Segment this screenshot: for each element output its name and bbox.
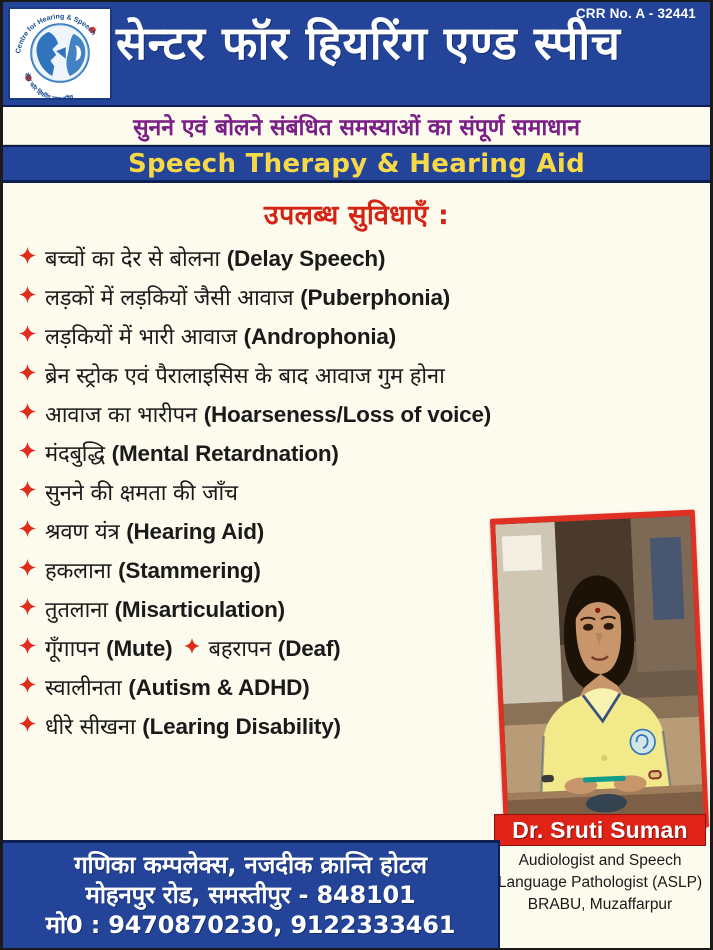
list-item: बच्चों का देर से बोलना (Delay Speech): [19, 243, 710, 282]
doctor-credential-line-3: BRABU, Muzaffarpur: [494, 894, 706, 916]
list-item-label: तुतलाना (Misarticulation): [45, 594, 285, 624]
red-diamond-icon: [19, 559, 36, 576]
doctor-credential-line-2: Language Pathologist (ASLP): [494, 872, 706, 894]
tagline-text: सुनने एवं बोलने संबंधित समस्याओं का संपू…: [133, 110, 580, 142]
red-diamond-icon: [19, 676, 36, 693]
list-item: लड़कियों में भारी आवाज (Androphonia): [19, 321, 710, 360]
doctor-name: Dr. Sruti Suman: [512, 817, 688, 844]
services-subtitle-band: Speech Therapy & Hearing Aid: [3, 145, 710, 183]
list-item: मंदबुद्धि (Mental Retardnation): [19, 438, 710, 477]
address-line-2: मोहनपुर रोड, समस्तीपुर - 848101: [86, 880, 416, 910]
address-phone: मो0 : 9470870230, 9122333461: [46, 910, 456, 940]
list-item: लड़कों में लड़कियों जैसी आवाज (Puberphon…: [19, 282, 710, 321]
doctor-photo-card: [497, 514, 702, 832]
doctor-portrait-illustration: [495, 516, 704, 833]
red-diamond-icon: [19, 286, 36, 303]
avatar: [495, 516, 704, 833]
list-item-label: हकलाना (Stammering): [45, 555, 261, 585]
list-item-label: धीरे सीखना (Learing Disability): [45, 711, 341, 741]
list-item-label: श्रवण यंत्र (Hearing Aid): [45, 516, 264, 546]
red-diamond-icon: [19, 481, 36, 498]
list-item-label: मंदबुद्धि (Mental Retardnation): [45, 438, 339, 468]
list-item-label: ब्रेन स्ट्रोक एवं पैरालाइसिस के बाद आवाज…: [45, 360, 445, 390]
brand-text-wrap: CRR No. A - 32441 सेन्टर फॉर हियरिंग एण्…: [112, 2, 710, 105]
list-item-label: लड़कों में लड़कियों जैसी आवाज (Puberphon…: [45, 282, 450, 312]
red-diamond-icon: [19, 715, 36, 732]
list-item: आवाज का भारीपन (Hoarseness/Loss of voice…: [19, 399, 710, 438]
red-diamond-icon: [19, 598, 36, 615]
red-diamond-icon: [19, 637, 36, 654]
address-band: गणिका कम्पलेक्स, नजदीक क्रान्ति होटल मोह…: [3, 840, 500, 948]
red-diamond-icon: [19, 364, 36, 381]
poster-header: Centre for Hearing & Speech सेंटर फॉर हि…: [3, 2, 710, 107]
doctor-credentials: Audiologist and Speech Language Patholog…: [494, 850, 706, 916]
red-diamond-icon: [19, 325, 36, 342]
list-item-label: आवाज का भारीपन (Hoarseness/Loss of voice…: [45, 399, 491, 429]
services-heading: उपलब्ध सुविधाएँ :: [3, 195, 710, 243]
clinic-logo: Centre for Hearing & Speech सेंटर फॉर हि…: [8, 7, 112, 100]
services-subtitle: Speech Therapy & Hearing Aid: [128, 149, 585, 179]
list-item-label-secondary: बहरापन (Deaf): [208, 633, 340, 663]
photo-red-frame: [490, 510, 709, 837]
list-item: ब्रेन स्ट्रोक एवं पैरालाइसिस के बाद आवाज…: [19, 360, 710, 399]
head-ear-hearing-speech-logo: Centre for Hearing & Speech सेंटर फॉर हि…: [10, 9, 110, 98]
red-diamond-icon: [184, 638, 200, 654]
list-item: सुनने की क्षमता की जाँच: [19, 477, 710, 516]
red-diamond-icon: [19, 403, 36, 420]
list-item-label: स्वालीनता (Autism & ADHD): [45, 672, 310, 702]
doctor-credential-line-1: Audiologist and Speech: [494, 850, 706, 872]
list-item-label: गूँगापन (Mute): [45, 633, 172, 663]
list-item-label: बच्चों का देर से बोलना (Delay Speech): [45, 243, 385, 273]
list-item-label: सुनने की क्षमता की जाँच: [45, 477, 238, 507]
address-line-1: गणिका कम्पलेक्स, नजदीक क्रान्ति होटल: [74, 850, 427, 880]
tagline-band: सुनने एवं बोलने संबंधित समस्याओं का संपू…: [3, 107, 710, 145]
page-title: सेन्टर फॉर हियरिंग एण्ड स्पीच: [116, 20, 708, 67]
red-diamond-icon: [19, 442, 36, 459]
list-item-label: लड़कियों में भारी आवाज (Androphonia): [45, 321, 396, 351]
red-diamond-icon: [19, 247, 36, 264]
doctor-name-band: Dr. Sruti Suman: [494, 814, 706, 846]
red-diamond-icon: [19, 520, 36, 537]
advertisement-poster: Centre for Hearing & Speech सेंटर फॉर हि…: [0, 0, 713, 950]
